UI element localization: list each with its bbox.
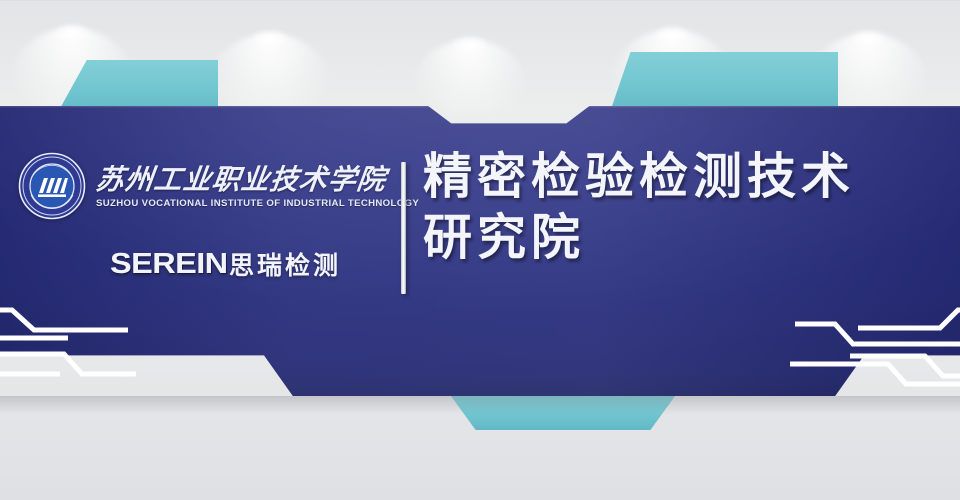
signage-scene: 苏州工业职业技术学院 SUZHOU VOCATIONAL INSTITUTE O… bbox=[0, 0, 960, 500]
downlight-source-4 bbox=[655, 26, 689, 42]
serein-name-cn: 思瑞检测 bbox=[229, 246, 341, 282]
serein-wordmark: SEREIN bbox=[110, 248, 228, 281]
vertical-divider-bar bbox=[401, 162, 406, 294]
downlight-source-3 bbox=[453, 36, 487, 52]
institute-title-line1: 精密检验检测技术 bbox=[423, 146, 943, 207]
downlight-source-1 bbox=[55, 24, 89, 40]
downlight-source-2 bbox=[253, 30, 287, 46]
school-name-cn: 苏州工业职业技术学院 bbox=[94, 164, 421, 196]
institute-title-line2: 研究院 bbox=[423, 207, 943, 268]
teal-slab-bottom-center bbox=[448, 392, 678, 430]
ceiling-seam bbox=[0, 0, 960, 2]
school-seal-icon bbox=[18, 152, 86, 220]
school-brand-lockup: 苏州工业职业技术学院 SUZHOU VOCATIONAL INSTITUTE O… bbox=[18, 152, 396, 220]
institute-title: 精密检验检测技术 研究院 bbox=[423, 146, 943, 268]
teal-slab-top-right bbox=[610, 52, 838, 112]
downlight-source-5 bbox=[851, 30, 885, 46]
school-name-en: SUZHOU VOCATIONAL INSTITUTE OF INDUSTRIA… bbox=[96, 198, 419, 210]
panel-content: 苏州工业职业技术学院 SUZHOU VOCATIONAL INSTITUTE O… bbox=[0, 106, 960, 396]
partner-brand-lockup: SEREIN 思瑞检测 bbox=[110, 246, 341, 282]
